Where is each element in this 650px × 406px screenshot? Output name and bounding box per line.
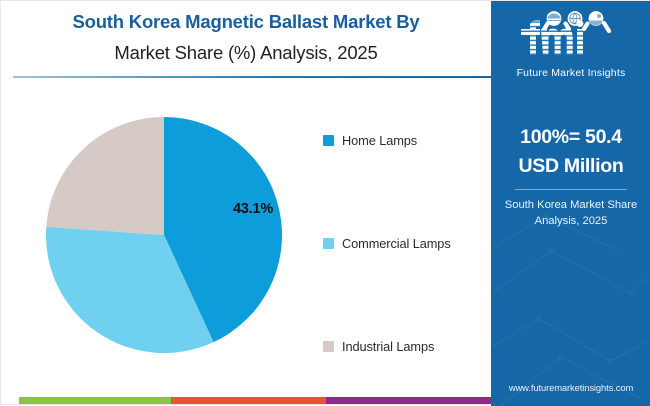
- bottom-color-bars: [1, 397, 491, 404]
- legend-item-industrial-lamps[interactable]: Industrial Lamps: [323, 339, 434, 354]
- legend-label-home-lamps: Home Lamps: [342, 133, 417, 148]
- pie-slice-industrial-lamps[interactable]: [46, 117, 164, 235]
- title-line-2: Market Share (%) Analysis, 2025: [1, 37, 491, 69]
- panel-divider: [515, 189, 627, 190]
- purple-bar: [326, 397, 491, 404]
- legend-swatch-home-lamps: [323, 135, 334, 146]
- infographic-root: South Korea Magnetic Ballast Market By M…: [0, 0, 650, 405]
- logo-i-dot: [577, 20, 584, 27]
- chart-legend: Home Lamps Commercial Lamps Industrial L…: [323, 121, 488, 361]
- legend-label-industrial-lamps: Industrial Lamps: [342, 339, 434, 354]
- legend-label-commercial-lamps: Commercial Lamps: [342, 236, 451, 251]
- pie-chart: [46, 117, 282, 353]
- panel-stat-line-2: USD Million: [499, 152, 643, 181]
- logo-figures: [543, 11, 609, 31]
- panel-stat: 100%= 50.4 USD Million: [499, 123, 643, 181]
- fmi-logo: Future Market Insights: [491, 9, 650, 81]
- panel-website-url[interactable]: www.futuremarketinsights.com: [491, 382, 650, 393]
- legend-swatch-commercial-lamps: [323, 238, 334, 249]
- legend-item-home-lamps[interactable]: Home Lamps: [323, 133, 417, 148]
- panel-stat-line-1: 100%= 50.4: [499, 123, 643, 152]
- chart-area: South Korea Magnetic Ballast Market By M…: [1, 1, 491, 391]
- title-line-1: South Korea Magnetic Ballast Market By: [1, 7, 491, 37]
- legend-swatch-industrial-lamps: [323, 341, 334, 352]
- pie-slice-label-home-lamps: 43.1%: [223, 201, 283, 217]
- brand-panel: Future Market Insights 100%= 50.4 USD Mi…: [491, 1, 650, 406]
- page-title: South Korea Magnetic Ballast Market By M…: [1, 7, 491, 69]
- green-bar: [19, 397, 171, 404]
- panel-subtitle-line-1: South Korea Market Share: [497, 197, 645, 213]
- legend-item-commercial-lamps[interactable]: Commercial Lamps: [323, 236, 451, 251]
- title-divider: [13, 76, 491, 78]
- panel-subtitle-line-2: Analysis, 2025: [497, 213, 645, 229]
- orange-bar: [171, 397, 326, 404]
- fmi-logo-mark: [507, 9, 635, 61]
- panel-subtitle: South Korea Market Share Analysis, 2025: [497, 197, 645, 229]
- pie-chart-svg: [46, 117, 282, 353]
- fmi-logo-tagline: Future Market Insights: [491, 67, 650, 79]
